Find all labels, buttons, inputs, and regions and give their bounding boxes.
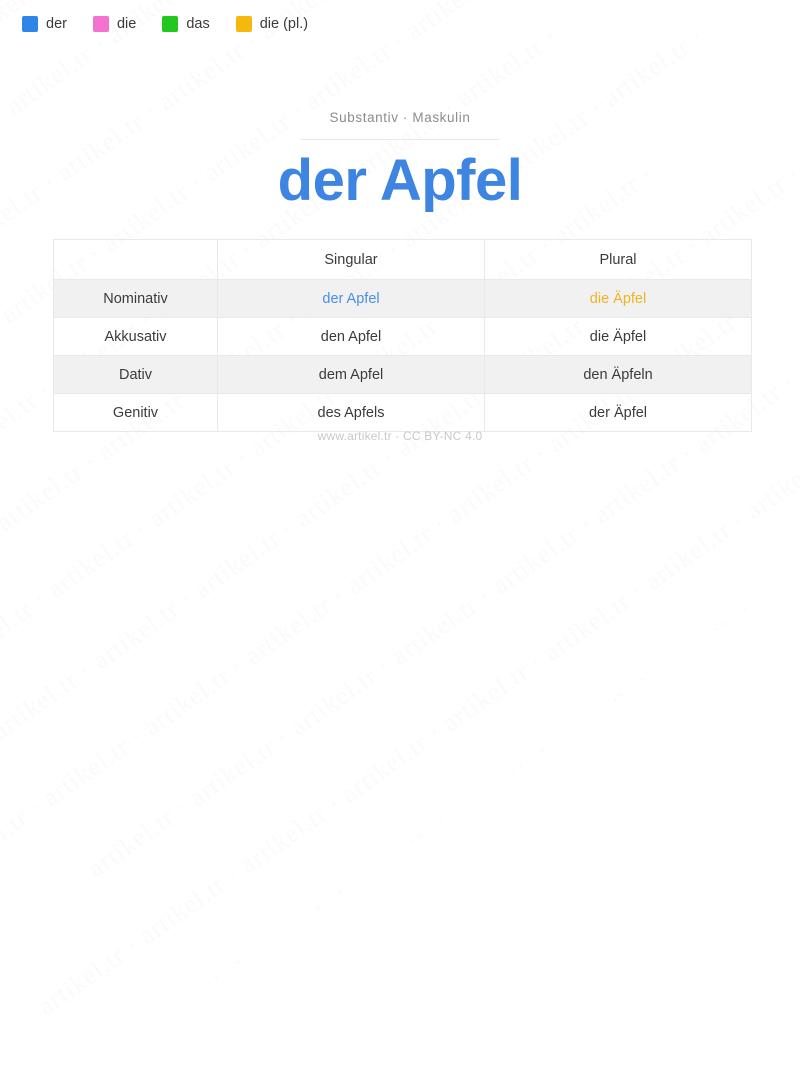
- plural-form-cell: die Äpfel: [485, 318, 752, 356]
- word-category-subtitle: Substantiv · Maskulin: [0, 110, 800, 125]
- singular-form-cell: den Apfel: [218, 318, 485, 356]
- case-label-cell: Akkusativ: [54, 318, 218, 356]
- legend-item-die: die: [93, 16, 136, 32]
- table-body: Nominativder Apfeldie ÄpfelAkkusativden …: [54, 280, 752, 432]
- footer-attribution: www.artikel.tr · CC BY-NC 4.0: [0, 429, 800, 443]
- singular-form-cell: der Apfel: [218, 280, 485, 318]
- legend-item-das: das: [162, 16, 209, 32]
- plural-form-cell: den Äpfeln: [485, 356, 752, 394]
- table-header-singular: Singular: [218, 240, 485, 280]
- table-row: Akkusativden Apfeldie Äpfel: [54, 318, 752, 356]
- legend-item-label: der: [46, 17, 67, 32]
- table-row: Genitivdes Apfelsder Äpfel: [54, 394, 752, 432]
- plural-form-cell: der Äpfel: [485, 394, 752, 432]
- table-header-row: SingularPlural: [54, 240, 752, 280]
- case-label-cell: Dativ: [54, 356, 218, 394]
- table-header-case: [54, 240, 218, 280]
- square-swatch-icon: [93, 16, 109, 32]
- singular-form-cell: dem Apfel: [218, 356, 485, 394]
- square-swatch-icon: [162, 16, 178, 32]
- singular-form-cell: des Apfels: [218, 394, 485, 432]
- table-header-plural: Plural: [485, 240, 752, 280]
- table-row: Dativdem Apfelden Äpfeln: [54, 356, 752, 394]
- plural-form-cell: die Äpfel: [485, 280, 752, 318]
- table-row: Nominativder Apfeldie Äpfel: [54, 280, 752, 318]
- subtitle-divider: [300, 139, 500, 140]
- table-header: SingularPlural: [54, 240, 752, 280]
- legend-item-label: die (pl.): [260, 17, 308, 32]
- square-swatch-icon: [22, 16, 38, 32]
- legend-item-diepl-plural: die (pl.): [236, 16, 308, 32]
- legend-item-label: die: [117, 17, 136, 32]
- declension-table: SingularPlural Nominativder Apfeldie Äpf…: [53, 239, 752, 432]
- case-label-cell: Genitiv: [54, 394, 218, 432]
- subtitle-block: Substantiv · Maskulin: [0, 110, 800, 140]
- case-label-cell: Nominativ: [54, 280, 218, 318]
- square-swatch-icon: [236, 16, 252, 32]
- legend-item-der: der: [22, 16, 67, 32]
- article-color-legend: derdiedasdie (pl.): [22, 16, 308, 32]
- legend-item-label: das: [186, 17, 209, 32]
- page-title: der Apfel: [0, 148, 800, 215]
